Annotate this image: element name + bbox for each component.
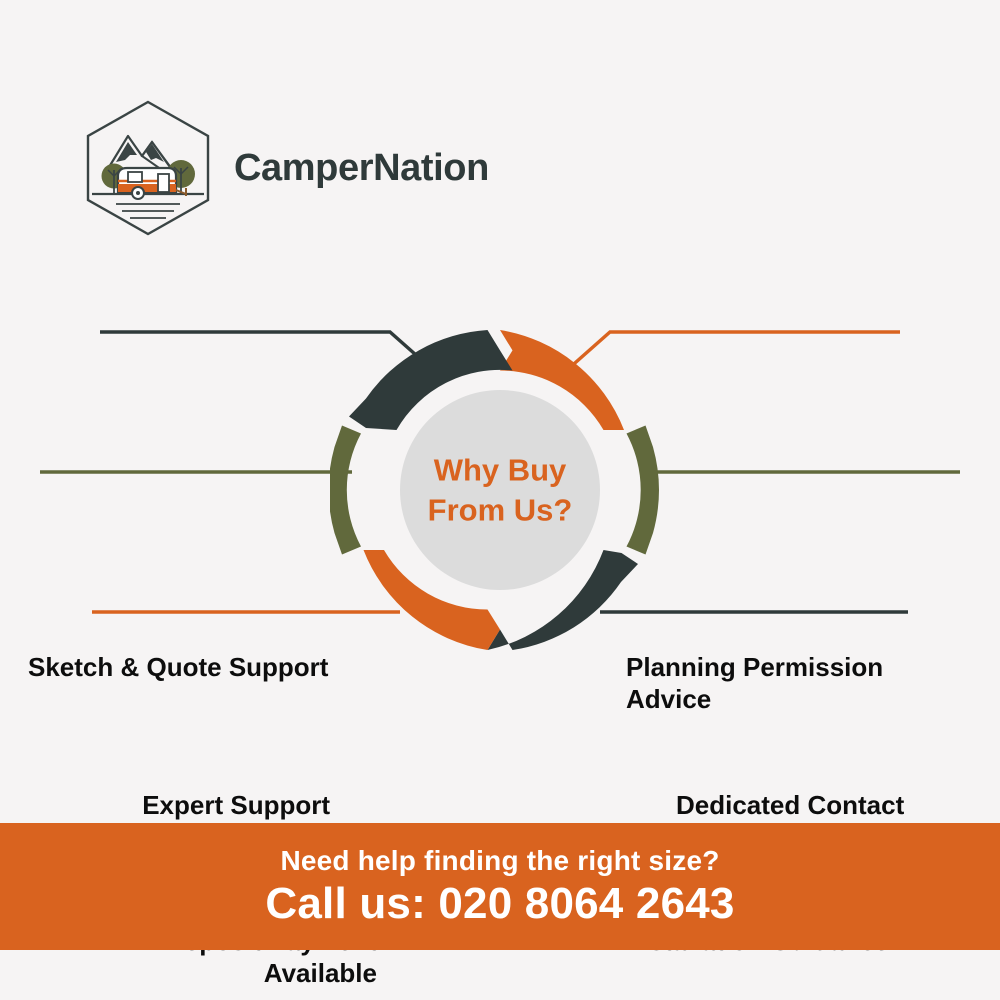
process-wheel <box>330 320 670 660</box>
segment-expert-support[interactable] <box>330 426 361 555</box>
brand-logo: CamperNation <box>80 98 489 238</box>
label-title: Dedicated Contact <box>676 790 976 822</box>
segment-dedicated-contact[interactable] <box>627 426 659 555</box>
label-sketch-quote-support[interactable]: Sketch & Quote Support <box>28 652 388 684</box>
why-buy-from-us-diagram: Why Buy From Us? Sketch & Quote Support … <box>0 300 1000 730</box>
label-planning-permission-advice[interactable]: Planning Permission Advice <box>626 652 946 715</box>
cta-phone[interactable]: Call us: 020 8064 2643 <box>265 879 734 929</box>
label-title: Sketch & Quote Support <box>28 652 388 684</box>
brand-name: CamperNation <box>234 147 489 190</box>
infographic-page: CamperNation <box>0 0 1000 1000</box>
camper-hexagon-badge-icon <box>80 98 216 238</box>
cta-question: Need help finding the right size? <box>280 845 719 877</box>
call-to-action-banner: Need help finding the right size? Call u… <box>0 823 1000 950</box>
label-title: Planning Permission Advice <box>626 652 946 715</box>
label-title: Expert Support <box>40 790 330 822</box>
